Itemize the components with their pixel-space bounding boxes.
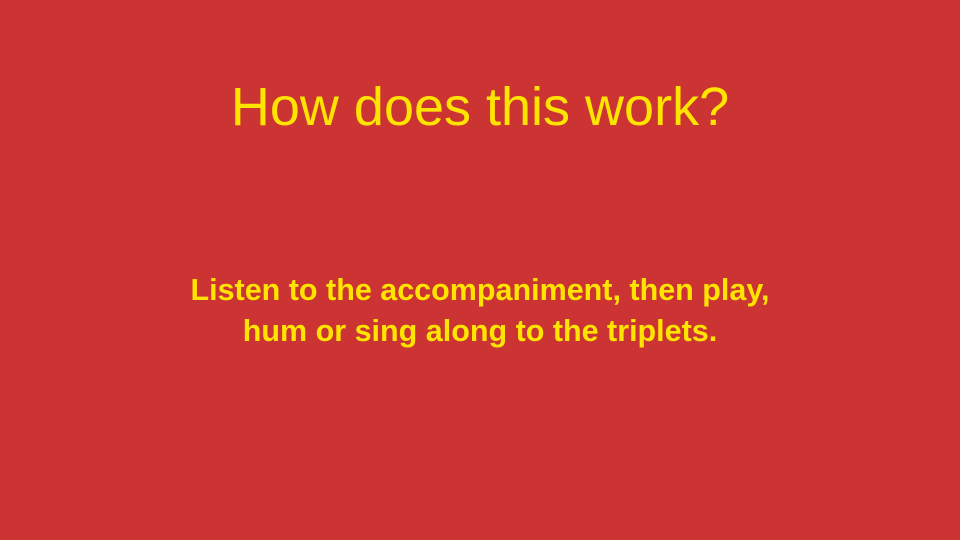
body-text-line-1: Listen to the accompaniment, then play, — [96, 270, 864, 311]
presentation-slide: How does this work? Listen to the accomp… — [0, 0, 960, 540]
page-title: How does this work? — [0, 75, 960, 139]
body-text-line-2: hum or sing along to the triplets. — [96, 311, 864, 352]
slide-body-text: Listen to the accompaniment, then play, … — [96, 270, 864, 352]
